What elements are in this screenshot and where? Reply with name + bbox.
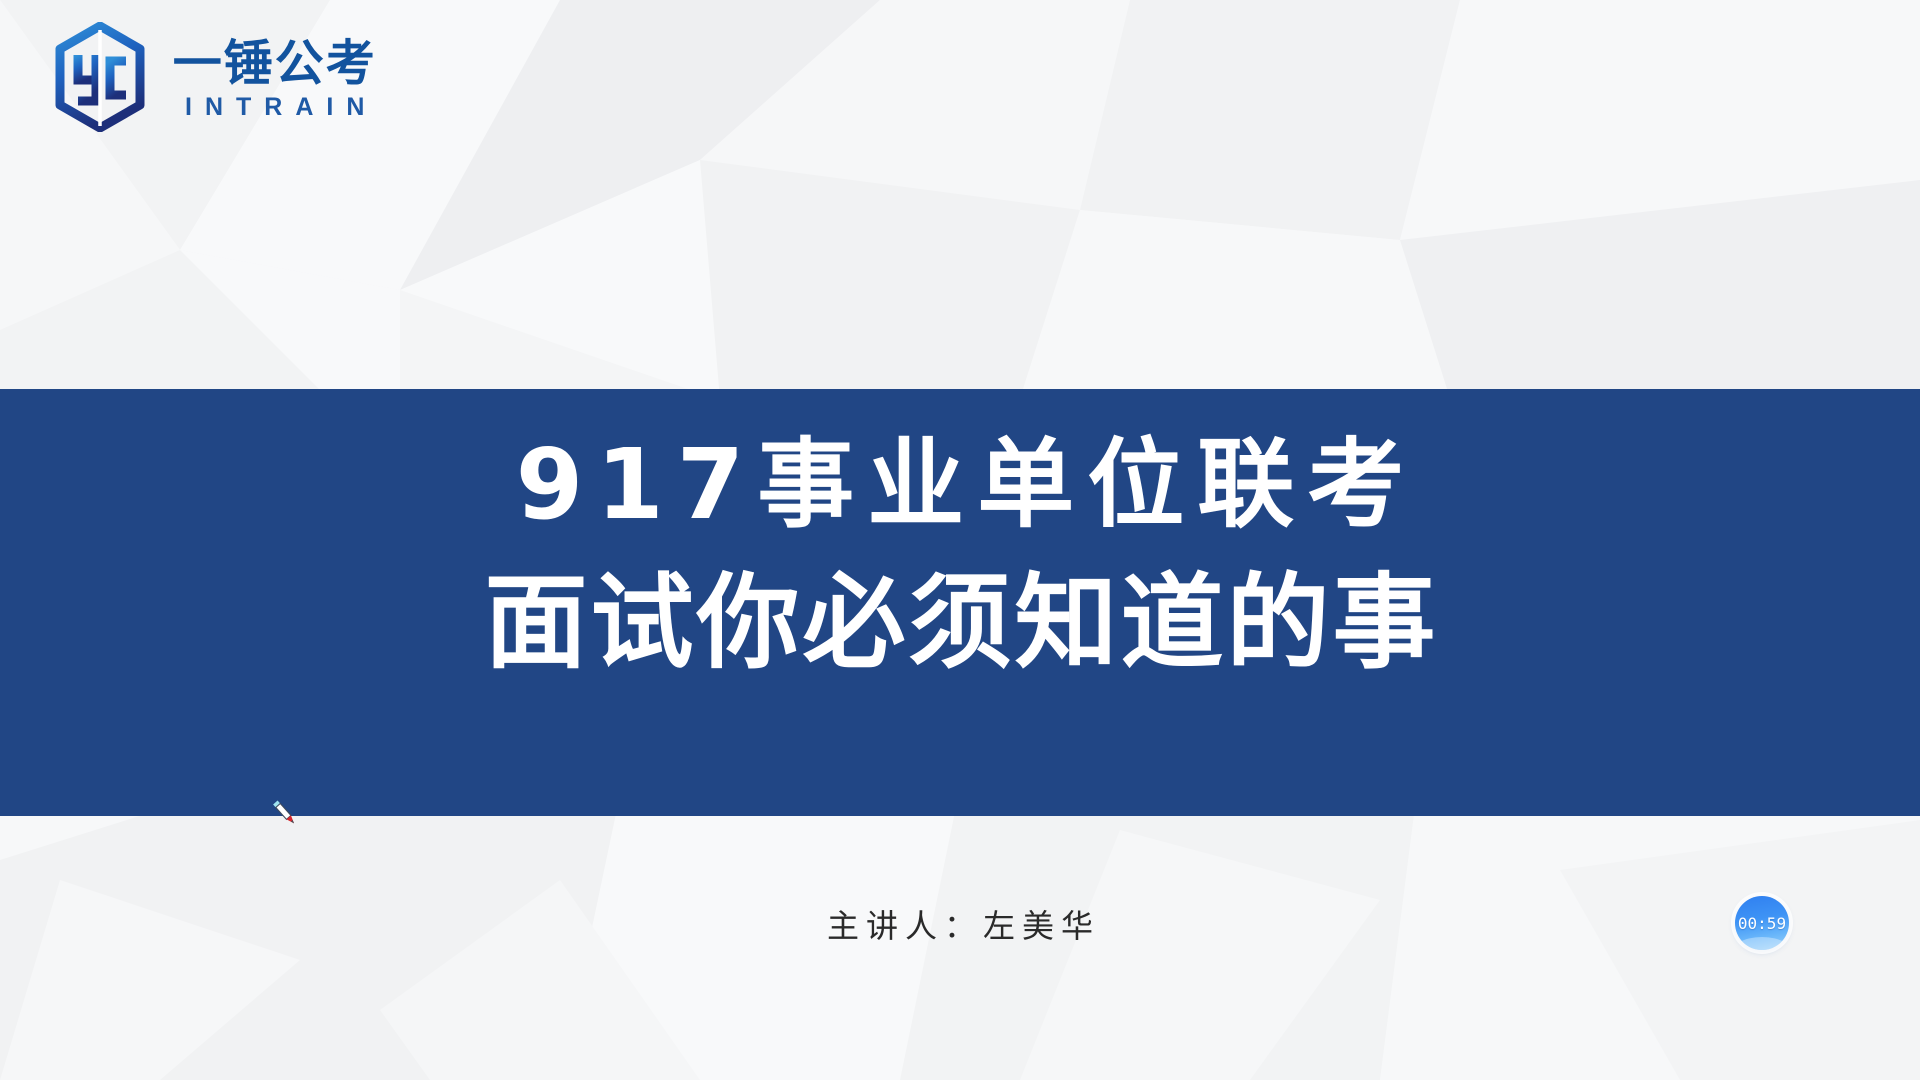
- brand-name-cn: 一锤公考: [173, 39, 377, 88]
- presenter-name: 主讲人：左美华: [820, 901, 1100, 947]
- title-line-1: 917事业单位联考: [0, 419, 1920, 550]
- pen-cursor-icon: [268, 797, 302, 831]
- title-block: 917事业单位联考 面试你必须知道的事: [0, 419, 1920, 689]
- title-band: 917事业单位联考 面试你必须知道的事: [0, 389, 1920, 816]
- title-line-2: 面试你必须知道的事: [0, 558, 1920, 689]
- hexagon-yc-logo-icon: [48, 22, 152, 132]
- presenter-row: 主讲人：左美华: [0, 901, 1920, 947]
- brand-wordmark: 一锤公考 INTRAIN: [172, 35, 377, 120]
- brand-name-en: INTRAIN: [172, 95, 377, 120]
- presentation-slide: 一锤公考 INTRAIN 917事业单位联考 面试你必须知道的事 主讲人：左美华…: [0, 0, 1920, 1080]
- timer-value: 00:59: [1738, 914, 1786, 933]
- brand-logo: 一锤公考 INTRAIN: [48, 22, 377, 132]
- timer-badge[interactable]: 00:59: [1735, 896, 1789, 950]
